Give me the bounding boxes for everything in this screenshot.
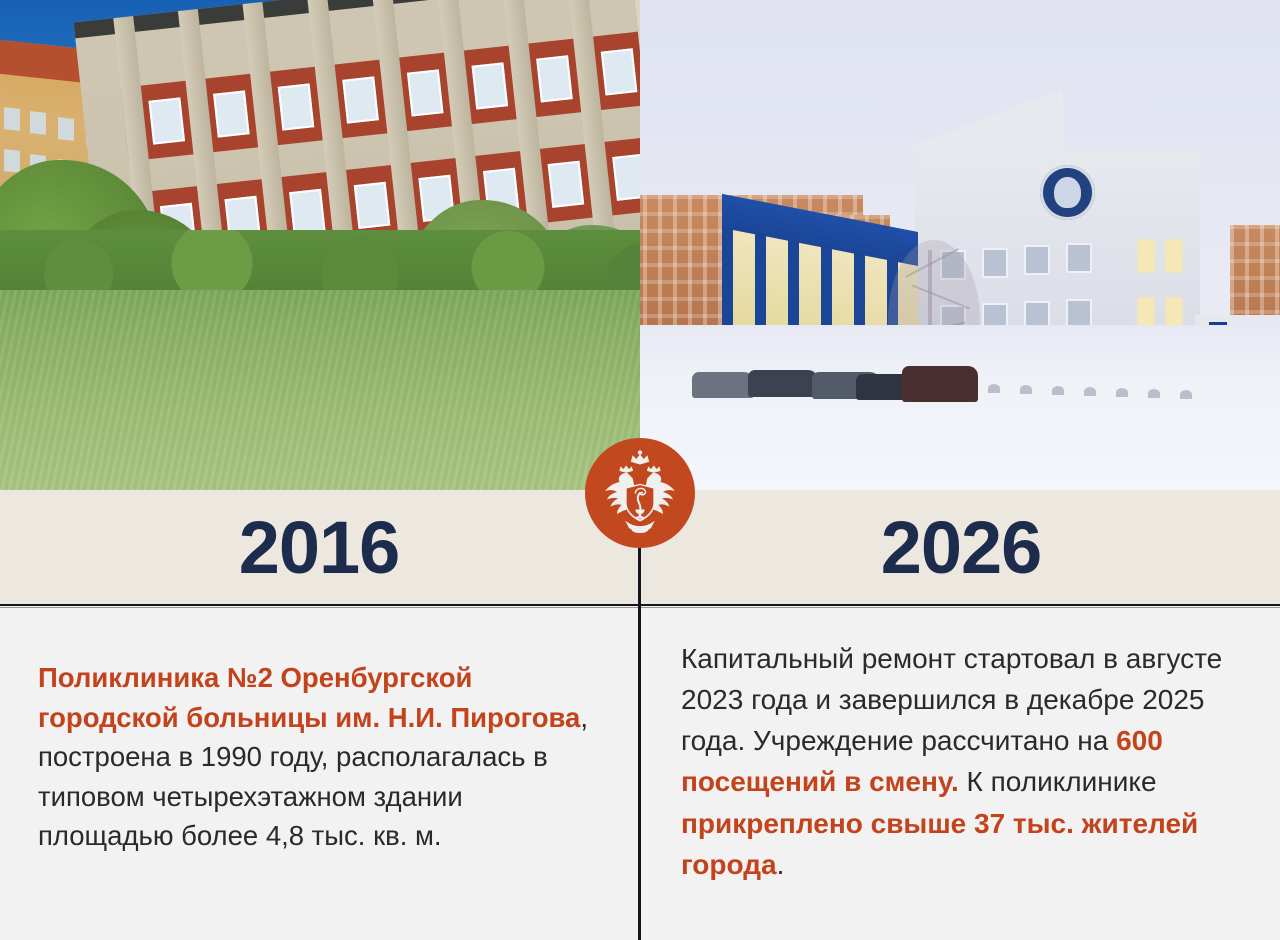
year-label-after: 2026 [642,490,1280,606]
parked-car [748,370,818,397]
building-window [1066,243,1092,273]
building-window [1024,245,1050,275]
apartment-window [4,107,20,131]
building-window [407,69,444,116]
building-window [213,90,250,137]
ministry-of-health-emblem-icon [585,438,695,548]
parked-car [902,366,978,402]
pirogov-medallion-icon [1040,165,1095,220]
building-window [536,55,573,102]
year-text-2026: 2026 [881,511,1042,585]
bollard [1052,386,1064,395]
building-gable-roof [903,88,1063,150]
snow-ground [640,325,1280,490]
photo-row [0,0,1280,490]
before-highlight-name: Поликлиника №2 Оренбургской городской бо… [38,662,580,733]
bollard [1148,389,1160,398]
after-photo-2026 [640,0,1280,490]
building-window [612,154,640,201]
apartment-window [4,149,20,173]
building-window [148,97,185,144]
lit-window [1166,240,1182,272]
infographic-root: 2016 2026 [0,0,1280,940]
lit-window [1138,240,1154,272]
bollard [1116,388,1128,397]
year-text-2016: 2016 [239,511,400,585]
after-text-panel: Капитальный ремонт стартовал в августе 2… [641,608,1279,940]
building-window [601,48,638,95]
building-window [354,182,391,229]
after-description: Капитальный ремонт стартовал в августе 2… [681,638,1239,885]
building-window [472,62,509,109]
apartment-window [58,117,74,141]
before-text-panel: Поликлиника №2 Оренбургской городской бо… [0,608,638,940]
bollard [988,384,1000,393]
after-text-part2: К поликлинике [959,766,1157,797]
building-window [982,248,1008,278]
bollard [1020,385,1032,394]
before-description: Поликлиника №2 Оренбургской городской бо… [38,658,598,856]
after-highlight-residents: прикреплено свыше 37 тыс. жителей города [681,808,1198,880]
center-divider [638,490,641,940]
year-label-before: 2016 [0,490,638,606]
building-window [278,83,315,130]
emblem-container [585,438,695,548]
apartment-window [30,111,46,135]
grass-lawn [0,290,640,490]
lit-window [1166,298,1182,328]
parked-car [692,372,754,398]
lit-window [1138,298,1154,328]
building-window [289,189,326,236]
before-photo-2016 [0,0,640,490]
bollard [1180,390,1192,399]
building-window [342,76,379,123]
after-text-part3: . [777,849,785,880]
bollard [1084,387,1096,396]
building-window [548,161,585,208]
